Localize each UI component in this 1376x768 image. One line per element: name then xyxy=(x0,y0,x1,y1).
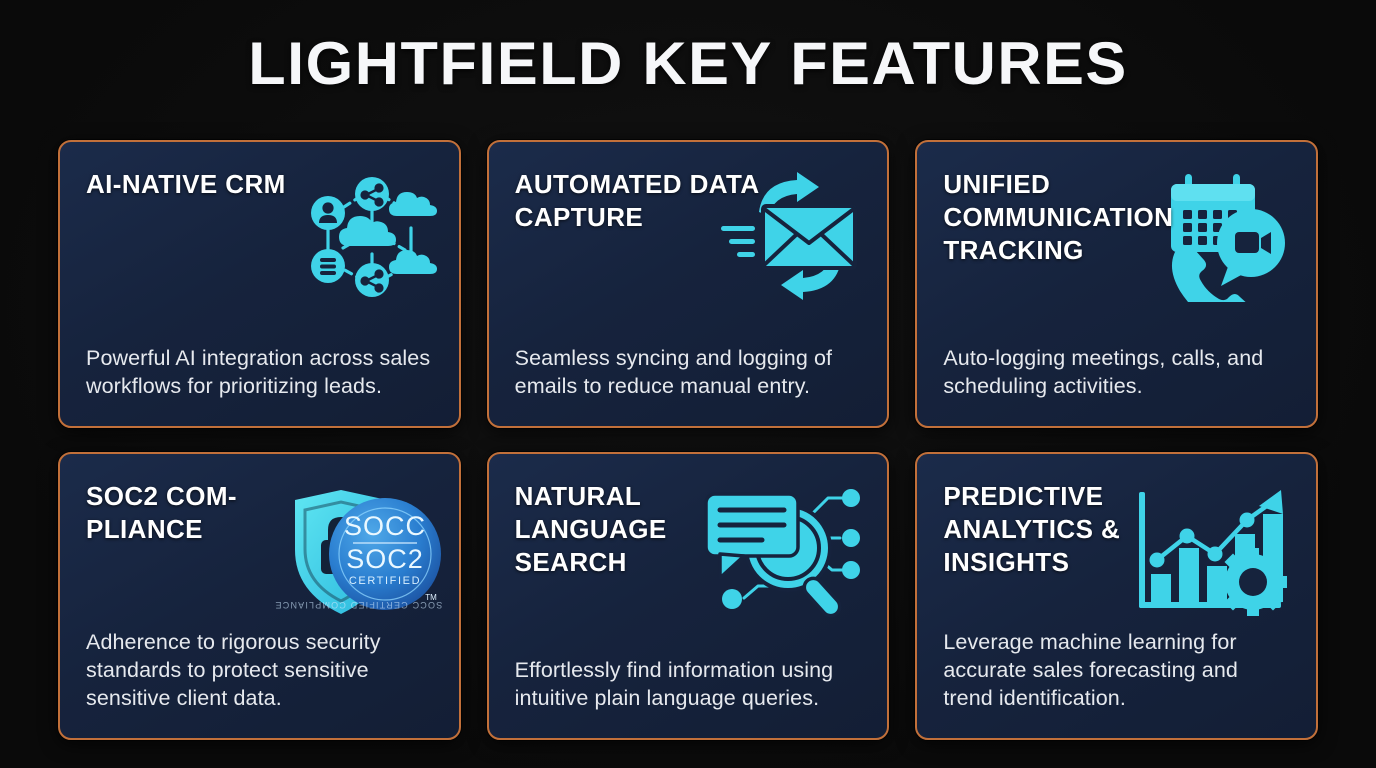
card-title: SOC2 COM-PLIANCE xyxy=(86,480,286,546)
feature-card-soc2-compliance[interactable]: SOC2 COM-PLIANCE xyxy=(58,452,461,740)
card-title: NATURAL LANGUAGE SEARCH xyxy=(515,480,765,579)
feature-card-grid: AI-NATIVE CRM xyxy=(58,140,1318,740)
badge-trademark: TM xyxy=(425,593,437,602)
feature-card-natural-language-search[interactable]: NATURAL LANGUAGE SEARCH xyxy=(487,452,890,740)
card-header: PREDICTIVE ANALYTICS & INSIGHTS xyxy=(943,480,1290,612)
badge-line-3: CERTIFIED xyxy=(349,575,421,587)
card-header: AI-NATIVE CRM xyxy=(86,168,433,300)
card-title: UNIFIED COMMUNICATION TRACKING xyxy=(943,168,1218,267)
card-title: AI-NATIVE CRM xyxy=(86,168,341,201)
badge-line-2: SOC2 xyxy=(346,544,424,574)
card-description: Powerful AI integration across sales wor… xyxy=(86,344,433,406)
card-description: Leverage machine learning for accurate s… xyxy=(943,628,1290,718)
feature-card-predictive-analytics-insights[interactable]: PREDICTIVE ANALYTICS & INSIGHTS xyxy=(915,452,1318,740)
card-title: PREDICTIVE ANALYTICS & INSIGHTS xyxy=(943,480,1193,579)
feature-card-ai-native-crm[interactable]: AI-NATIVE CRM xyxy=(58,140,461,428)
badge-rim-text: OFFICIAL SOCC CERTIFIED COMPLIANCE xyxy=(274,600,447,610)
card-header: AUTOMATED DATA CAPTURE xyxy=(515,168,862,300)
card-header: UNIFIED COMMUNICATION TRACKING xyxy=(943,168,1290,300)
card-description: Seamless syncing and logging of emails t… xyxy=(515,344,862,406)
page-title: LIGHTFIELD KEY FEATURES xyxy=(0,34,1376,94)
feature-card-unified-communication-tracking[interactable]: UNIFIED COMMUNICATION TRACKING xyxy=(915,140,1318,428)
feature-card-automated-data-capture[interactable]: AUTOMATED DATA CAPTURE xyxy=(487,140,890,428)
badge-line-1: SOCC xyxy=(344,511,426,541)
card-description: Adherence to rigorous security standards… xyxy=(86,628,433,718)
card-description: Auto-logging meetings, calls, and schedu… xyxy=(943,344,1290,406)
card-title: AUTOMATED DATA CAPTURE xyxy=(515,168,770,234)
feature-grid-page: LIGHTFIELD KEY FEATURES AI-NATIVE CRM xyxy=(0,0,1376,768)
card-description: Effortlessly find information using intu… xyxy=(515,656,862,718)
card-header: SOC2 COM-PLIANCE xyxy=(86,480,433,612)
card-header: NATURAL LANGUAGE SEARCH xyxy=(515,480,862,612)
